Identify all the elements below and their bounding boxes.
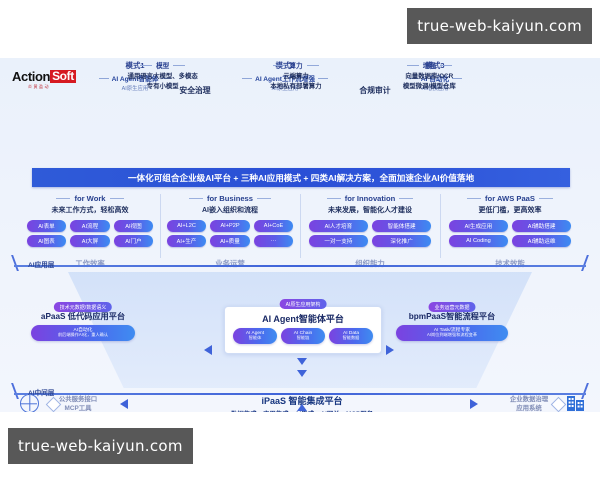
app-column-1: for BusinessAI嵌入组织和流程AI+L2CAI+P2PAI+CoEA… <box>160 192 300 264</box>
chip-sub: 智能体 <box>249 336 262 341</box>
center-chip-1[interactable]: AI Chain智能链 <box>281 328 325 344</box>
application-layer: for Work未来工作方式，轻松高效AI表单AI流程AI视图AI图表AI大屏A… <box>20 192 580 264</box>
band-label-middle: AI中间层 <box>28 387 54 397</box>
app-pill-2-2[interactable]: 一对一支持 <box>309 235 368 247</box>
badge-apaas: 技术元数据/数据语义 <box>54 302 112 312</box>
platform-apaas[interactable]: 技术元数据/数据语义 aPaaS 低代码应用平台 AI自动化 前后端操作AI化，… <box>18 310 148 341</box>
app-pill-2-1[interactable]: 智能体搭建 <box>372 220 431 232</box>
app-pill-0-0[interactable]: AI表单 <box>27 220 66 232</box>
app-column-en: for Business <box>207 194 253 203</box>
base-head: 模型 <box>156 60 169 70</box>
band-application-layer: AI应用层 <box>14 260 586 272</box>
app-column-head: for Work <box>56 194 123 203</box>
app-column-en: for Work <box>74 194 105 203</box>
app-pill-0-4[interactable]: AI大屏 <box>70 235 109 247</box>
arrow-right-to-bpmpaas <box>386 345 394 355</box>
base-line1: 向量数据库/OCR <box>363 72 496 82</box>
app-pill-2-0[interactable]: AI人才培育 <box>309 220 368 232</box>
base-line2: 本地私有部署算力 <box>229 82 362 92</box>
base-column-0: 模型通用语言大模型、多模态专有小模型 <box>96 60 229 91</box>
app-column-pills: AI生成应用AI辅助搭建AI CodingAI辅助运维 <box>444 220 576 247</box>
slide-canvas: Acti on Soft 炎黄盈动 一体化可组合企业级AI平台 + 三种AI应用… <box>0 58 600 412</box>
watermark-bottom: true-web-kaiyun.com <box>8 428 193 464</box>
bpmpaas-chip-row: AI Task/流程专家 AI岗位到端增强和流程变革 <box>382 325 522 341</box>
base-head-row: 算力 <box>229 60 362 70</box>
app-pill-1-0[interactable]: AI+L2C <box>167 220 206 232</box>
rule-right <box>539 198 553 199</box>
arrow-left-to-apaas <box>204 345 212 355</box>
rule-right <box>110 198 124 199</box>
chip-sub: 前后端操作AI化，重人确认 <box>58 333 108 338</box>
app-column-pills: AI+L2CAI+P2PAI+CoEAI+生产AI+质量··· <box>164 220 296 247</box>
app-column-cn: 更低门槛，更高效率 <box>479 205 542 215</box>
rule-left <box>467 198 481 199</box>
title-ai-agent: AI Agent智能体平台 <box>225 312 381 325</box>
logo-text-on: on <box>35 70 50 83</box>
arrow-ipaas-right <box>470 399 478 409</box>
logo-tagline: 炎黄盈动 <box>28 84 50 90</box>
ai-agent-chip-row: AI Agent智能体AI Chain智能链AI Data智能数据 <box>225 328 381 344</box>
app-pill-3-0[interactable]: AI生成应用 <box>449 220 508 232</box>
app-column-0: for Work未来工作方式，轻松高效AI表单AI流程AI视图AI图表AI大屏A… <box>20 192 160 264</box>
app-pill-0-1[interactable]: AI流程 <box>70 220 109 232</box>
base-column-2: 增强向量数据库/OCR模型微调/模型仓库 <box>363 60 496 91</box>
base-layer-columns: 模型通用语言大模型、多模态专有小模型算力云端算力本地私有部署算力增强向量数据库/… <box>96 60 496 91</box>
apaas-chip-row: AI自动化 前后端操作AI化，重人确认 <box>18 325 148 341</box>
app-pill-3-1[interactable]: AI辅助搭建 <box>512 220 571 232</box>
app-pill-1-4[interactable]: AI+质量 <box>210 235 249 247</box>
app-column-cn: 未来发展，智能化人才建设 <box>328 205 412 215</box>
app-pill-3-2[interactable]: AI Coding <box>449 235 508 247</box>
arrow-down-to-ipaas <box>297 370 307 377</box>
band-line <box>14 265 586 267</box>
app-pill-1-2[interactable]: AI+CoE <box>254 220 293 232</box>
chip-sub: 智能数据 <box>343 336 360 341</box>
base-line2: 模型微调/模型仓库 <box>363 82 496 92</box>
app-column-en: for Innovation <box>345 194 396 203</box>
base-head-row: 增强 <box>363 60 496 70</box>
badge-ai-agent: AI原生应用架构 <box>280 299 327 309</box>
platform-ai-agent[interactable]: AI原生应用架构 AI Agent智能体平台 AI Agent智能体AI Cha… <box>224 306 382 354</box>
app-column-cn: AI嵌入组织和流程 <box>202 205 258 215</box>
arrow-up-from-base <box>297 404 307 411</box>
app-column-2: for Innovation未来发展，智能化人才建设AI人才培育智能体搭建一对一… <box>300 192 440 264</box>
rule-left <box>56 198 70 199</box>
app-column-pills: AI人才培育智能体搭建一对一支持深化推广 <box>304 220 436 247</box>
chip-sub: AI岗位到端增强和流程变革 <box>427 333 477 338</box>
band-line <box>14 393 586 395</box>
band-middle-layer: AI中间层 <box>14 388 586 400</box>
app-pill-0-5[interactable]: AI门户 <box>114 235 153 247</box>
app-column-pills: AI表单AI流程AI视图AI图表AI大屏AI门户 <box>24 220 156 247</box>
logo-text-action: Acti <box>12 70 35 83</box>
platform-bpmpaas[interactable]: 业务运营元数据 bpmPaaS智能流程平台 AI Task/流程专家 AI岗位到… <box>382 310 522 341</box>
app-column-cn: 未来工作方式，轻松高效 <box>52 205 129 215</box>
arrow-down-center <box>297 358 307 365</box>
public-service-line2: MCP工具 <box>42 405 114 412</box>
watermark-top: true-web-kaiyun.com <box>407 8 592 44</box>
center-chip-0[interactable]: AI Agent智能体 <box>233 328 277 344</box>
app-column-en: for AWS PaaS <box>485 194 535 203</box>
chip-ai-automation[interactable]: AI自动化 前后端操作AI化，重人确认 <box>31 325 135 341</box>
badge-bpmpaas: 业务运营元数据 <box>428 302 475 312</box>
rule-left <box>327 198 341 199</box>
app-column-head: for Innovation <box>327 194 414 203</box>
center-chip-2[interactable]: AI Data智能数据 <box>329 328 373 344</box>
app-pill-2-3[interactable]: 深化推广 <box>372 235 431 247</box>
base-head: 增强 <box>423 60 436 70</box>
app-pill-3-3[interactable]: AI辅助运维 <box>512 235 571 247</box>
band-label-app: AI应用层 <box>28 259 54 269</box>
app-pill-1-5[interactable]: ··· <box>254 235 293 247</box>
chip-sub: 智能链 <box>297 336 310 341</box>
app-pill-0-3[interactable]: AI图表 <box>27 235 66 247</box>
app-pill-0-2[interactable]: AI视图 <box>114 220 153 232</box>
app-pill-1-3[interactable]: AI+生产 <box>167 235 206 247</box>
chip-ai-task[interactable]: AI Task/流程专家 AI岗位到端增强和流程变革 <box>396 325 508 341</box>
app-column-3: for AWS PaaS更低门槛，更高效率AI生成应用AI辅助搭建AI Codi… <box>440 192 580 264</box>
rule-right <box>399 198 413 199</box>
base-column-1: 算力云端算力本地私有部署算力 <box>229 60 362 91</box>
rule-right <box>257 198 271 199</box>
base-line1: 云端算力 <box>229 72 362 82</box>
base-line1: 通用语言大模型、多模态 <box>96 72 229 82</box>
headline-banner: 一体化可组合企业级AI平台 + 三种AI应用模式 + 四类AI解决方案，全面加速… <box>32 168 570 187</box>
app-column-head: for AWS PaaS <box>467 194 553 203</box>
base-head-row: 模型 <box>96 60 229 70</box>
base-line2: 专有小模型 <box>96 82 229 92</box>
base-head: 算力 <box>289 60 302 70</box>
rule-left <box>189 198 203 199</box>
app-pill-1-1[interactable]: AI+P2P <box>210 220 249 232</box>
app-column-head: for Business <box>189 194 271 203</box>
